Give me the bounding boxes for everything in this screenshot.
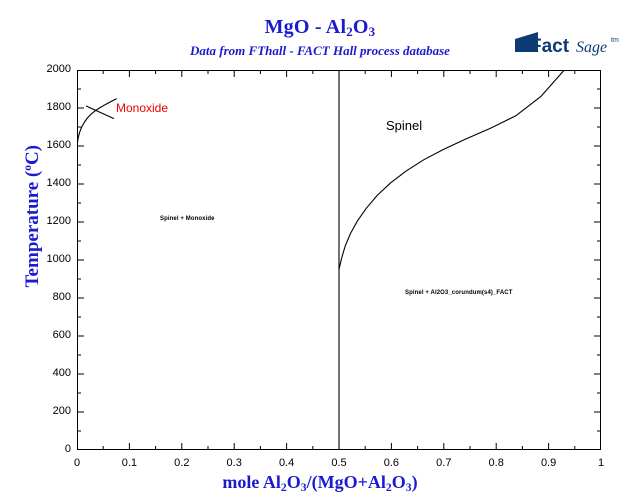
x-tick-label: 0.8 (476, 457, 516, 469)
x-tick-label: 0.2 (162, 457, 202, 469)
x-axis-label-p3: 3 (301, 481, 307, 494)
x-axis-label-p2: O (287, 472, 301, 492)
factsage-logo-icon: Fact Sage tm (512, 30, 624, 60)
x-axis-label-p7: 3 (406, 481, 412, 494)
x-tick-label: 0.6 (371, 457, 411, 469)
x-tick-label: 0 (57, 457, 97, 469)
y-tick-label: 0 (11, 443, 71, 455)
region-label-spinel-monoxide: Spinel + Monoxide (160, 216, 215, 222)
plot-area (77, 70, 601, 450)
phase-diagram-page: MgO - Al2O3 Data from FThall - FACT Hall… (0, 0, 640, 504)
x-tick-label: 1 (581, 457, 621, 469)
factsage-logo: Fact Sage tm (512, 30, 624, 60)
x-tick-label: 0.9 (529, 457, 569, 469)
degree-symbol: o (22, 165, 34, 171)
page-title-sub1: 2 (346, 24, 353, 39)
factsage-sage-text: Sage (576, 39, 607, 56)
y-tick-label: 1000 (11, 253, 71, 265)
x-axis-label-p4: /(MgO+Al (307, 472, 386, 492)
x-axis-label: mole Al2O3/(MgO+Al2O3) (0, 472, 640, 493)
phase-boundary-curve (339, 70, 564, 270)
region-label-spinel: Spinel (386, 118, 422, 133)
x-axis-label-p5: 2 (386, 481, 392, 494)
region-label-spinel-corundum: Spinel + Al2O3_corundum(s4)_FACT (405, 290, 513, 296)
x-axis-label-p1: 2 (281, 481, 287, 494)
factsage-fact-text: Fact (530, 36, 570, 57)
factsage-trademark-text: tm (611, 37, 619, 44)
y-tick-label: 600 (11, 329, 71, 341)
y-tick-label: 200 (11, 405, 71, 417)
x-tick-label: 0.4 (267, 457, 307, 469)
x-tick-label: 0.7 (424, 457, 464, 469)
y-tick-label: 800 (11, 291, 71, 303)
page-title-part1: MgO - Al (265, 16, 347, 38)
y-tick-label: 400 (11, 367, 71, 379)
x-tick-label: 0.3 (214, 457, 254, 469)
x-tick-label: 0.5 (319, 457, 359, 469)
y-tick-label: 1800 (11, 101, 71, 113)
x-axis-label-p6: O (392, 472, 406, 492)
x-tick-label: 0.1 (109, 457, 149, 469)
y-tick-label: 1400 (11, 177, 71, 189)
y-tick-label: 2000 (11, 63, 71, 75)
x-axis-label-p0: mole Al (222, 472, 281, 492)
phase-boundary-curve (77, 99, 116, 146)
y-tick-label: 1600 (11, 139, 71, 151)
x-axis-label-p8: ) (412, 472, 418, 492)
page-title-part2: O (353, 16, 369, 38)
page-title-sub2: 3 (369, 24, 376, 39)
region-label-monoxide: Monoxide (116, 101, 168, 115)
y-tick-label: 1200 (11, 215, 71, 227)
